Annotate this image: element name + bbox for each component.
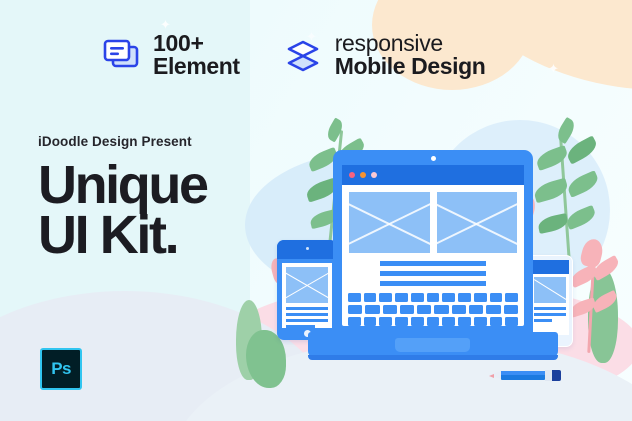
badge-text-block: 100+ Element [153, 32, 240, 79]
laptop-lid [333, 150, 533, 335]
laptop-camera-icon [431, 156, 436, 161]
browser-dot-minimize[interactable] [360, 172, 366, 178]
text-line [380, 281, 486, 286]
badge-line-primary: 100+ [153, 32, 240, 55]
tablet-text-lines [286, 307, 328, 328]
keyboard-row [348, 317, 518, 326]
poster-canvas: ✦ ✦ ✦ [0, 0, 632, 421]
photoshop-badge: Ps [40, 348, 82, 390]
keyboard-row [348, 293, 518, 302]
laptop-device [333, 150, 533, 365]
wireframe-placeholder [437, 192, 518, 253]
pencil-lead [489, 374, 494, 378]
text-line [380, 271, 486, 276]
pencil-object [489, 370, 563, 381]
laptop-trackpad [395, 338, 470, 352]
phone-screen [531, 274, 569, 335]
plant-right-pink [572, 235, 622, 355]
browser-dot-maximize[interactable] [371, 172, 377, 178]
badge-line-primary: responsive [335, 32, 486, 55]
keyboard-row [348, 305, 518, 314]
browser-dot-close[interactable] [349, 172, 355, 178]
browser-wireframe-row [349, 192, 517, 253]
badge-100-element: 100+ Element [100, 32, 240, 79]
tablet-device [277, 240, 337, 340]
phone-wireframe-image [534, 277, 566, 303]
badge-line-secondary: Mobile Design [335, 55, 486, 78]
phone-text-lines [534, 307, 566, 322]
photoshop-badge-label: Ps [51, 359, 71, 379]
layers-icon [282, 34, 324, 76]
tablet-wireframe-image [286, 267, 328, 303]
browser-title-bar [342, 165, 524, 185]
laptop-base-edge [308, 355, 558, 360]
browser-window [342, 165, 524, 326]
text-line [380, 261, 486, 266]
feature-badge-row: 100+ Element responsive Mobile Design [0, 0, 632, 110]
tablet-camera-icon [306, 247, 309, 250]
page-title: Unique UI Kit. [38, 160, 207, 260]
hero-eyebrow: iDoodle Design Present [38, 134, 207, 149]
badge-responsive-mobile: responsive Mobile Design [282, 32, 486, 79]
pencil-ferrule [545, 370, 552, 381]
stacked-cards-icon [100, 34, 142, 76]
tablet-screen [282, 263, 332, 328]
pencil-eraser [552, 370, 561, 381]
pencil-body-highlight [501, 371, 545, 375]
browser-text-lines [380, 261, 486, 286]
hero-copy: iDoodle Design Present Unique UI Kit. [38, 134, 207, 260]
phone-header-bar [531, 260, 569, 274]
badge-line-secondary: Element [153, 55, 240, 78]
wireframe-placeholder [349, 192, 430, 253]
badge-text-block: responsive Mobile Design [335, 32, 486, 79]
